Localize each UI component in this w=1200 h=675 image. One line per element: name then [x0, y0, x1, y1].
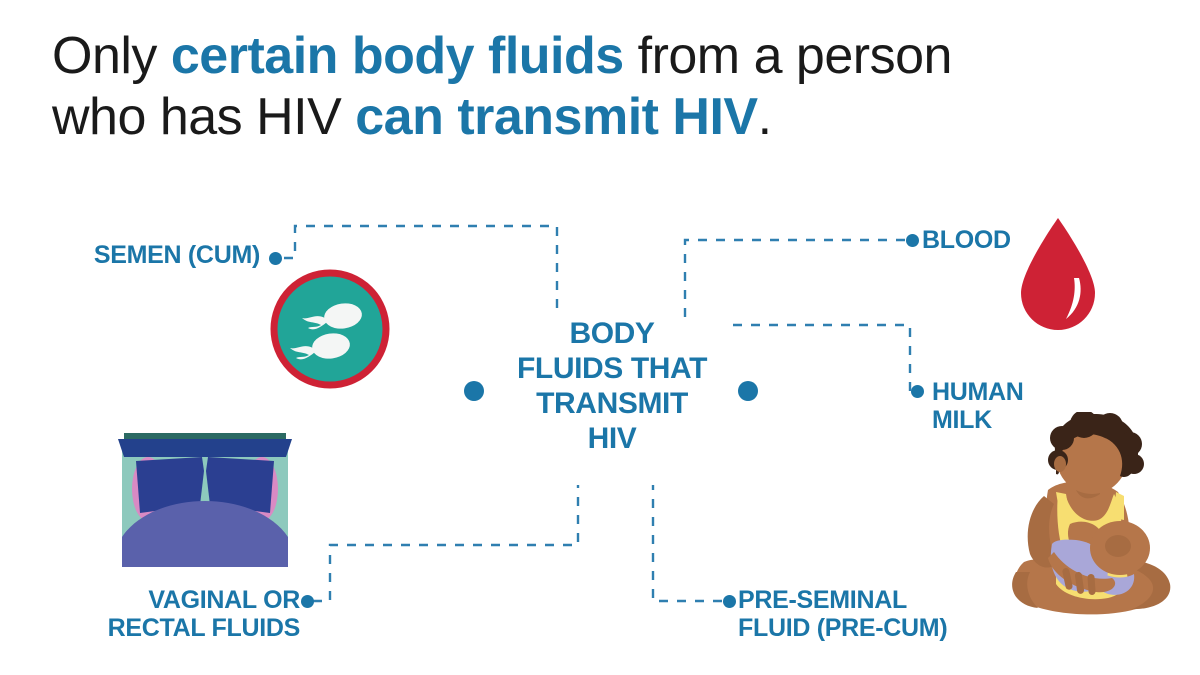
bed-icon [110, 427, 300, 569]
node-dot-blood [906, 234, 919, 247]
connector-milk [733, 325, 910, 391]
headline-text-emphasis-1: certain body fluids [171, 27, 624, 85]
blood-drop-icon [1016, 216, 1100, 332]
node-dot-preseminal [723, 595, 736, 608]
node-label-vaginal-rectal: VAGINAL OR RECTAL FLUIDS [20, 586, 300, 642]
sperm-circle-icon [269, 268, 391, 390]
connector-blood [685, 240, 905, 318]
center-dot-right [738, 381, 758, 401]
headline-text-normal-2: from a person [624, 27, 952, 85]
page-title: Only certain body fluids from a person w… [52, 26, 1152, 148]
node-label-semen: SEMEN (CUM) [30, 241, 260, 269]
node-dot-semen [269, 252, 282, 265]
node-dot-vaginal-rectal [301, 595, 314, 608]
center-dot-left [464, 381, 484, 401]
connector-preseminal [653, 485, 722, 601]
connector-vaginal [313, 485, 578, 601]
headline-text-normal-3: who has HIV [52, 88, 355, 146]
node-dot-human-milk [911, 385, 924, 398]
headline-text-normal-4: . [758, 88, 772, 146]
headline-text-emphasis-2: can transmit HIV [355, 88, 757, 146]
headline-text-normal-1: Only [52, 27, 171, 85]
headline-line-1: Only certain body fluids from a person [52, 26, 1152, 87]
headline-line-2: who has HIV can transmit HIV. [52, 87, 1152, 148]
node-label-preseminal: PRE-SEMINAL FLUID (PRE-CUM) [738, 586, 1068, 642]
center-node-label: BODY FLUIDS THAT TRANSMIT HIV [490, 316, 734, 456]
infographic-root: Only certain body fluids from a person w… [0, 0, 1200, 675]
